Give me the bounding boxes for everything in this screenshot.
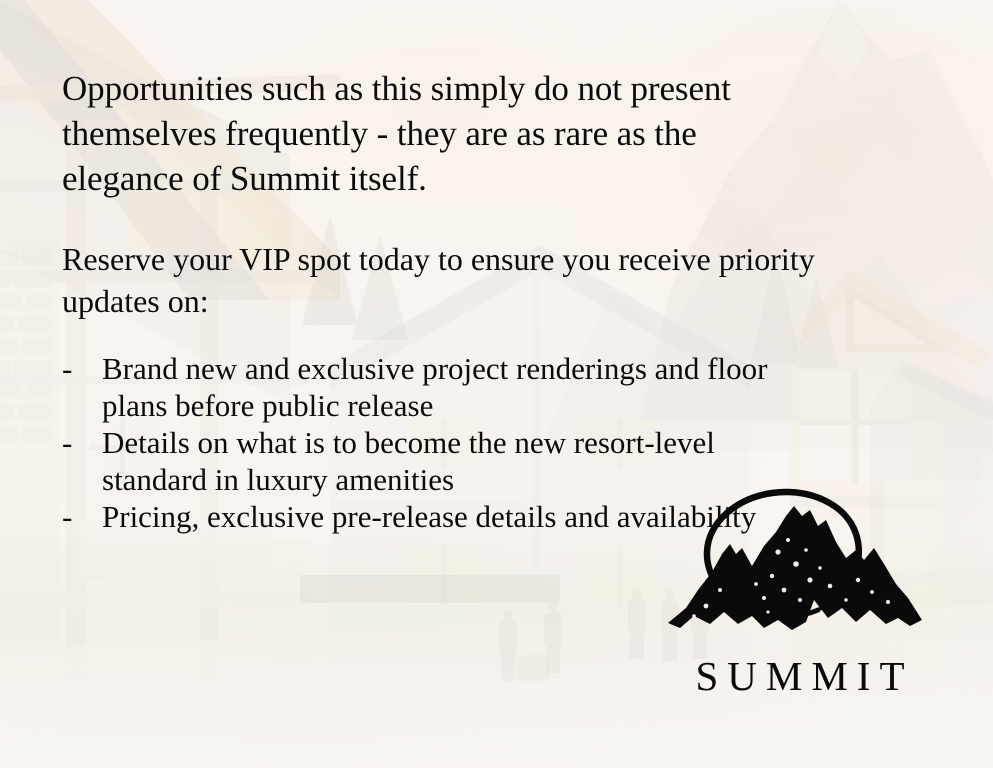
bullet-dash-marker: - — [62, 350, 72, 387]
list-item: - Brand new and exclusive project render… — [60, 350, 820, 424]
bullet-dash-marker: - — [62, 424, 72, 461]
bullet-dash-marker: - — [62, 498, 72, 535]
slide-content: Opportunities such as this simply do not… — [0, 0, 993, 768]
summit-logo: SUMMIT — [660, 480, 960, 700]
list-item-label: Brand new and exclusive project renderin… — [102, 351, 767, 423]
marketing-slide: Opportunities such as this simply do not… — [0, 0, 993, 768]
headline-text: Opportunities such as this simply do not… — [62, 66, 822, 201]
summit-wordmark: SUMMIT — [660, 652, 940, 700]
list-item-label: Details on what is to become the new res… — [102, 425, 715, 497]
list-item-label: Pricing, exclusive pre-release details a… — [102, 499, 756, 534]
subheadline-text: Reserve your VIP spot today to ensure yo… — [62, 238, 822, 322]
mountain-in-circle-icon — [660, 480, 940, 630]
